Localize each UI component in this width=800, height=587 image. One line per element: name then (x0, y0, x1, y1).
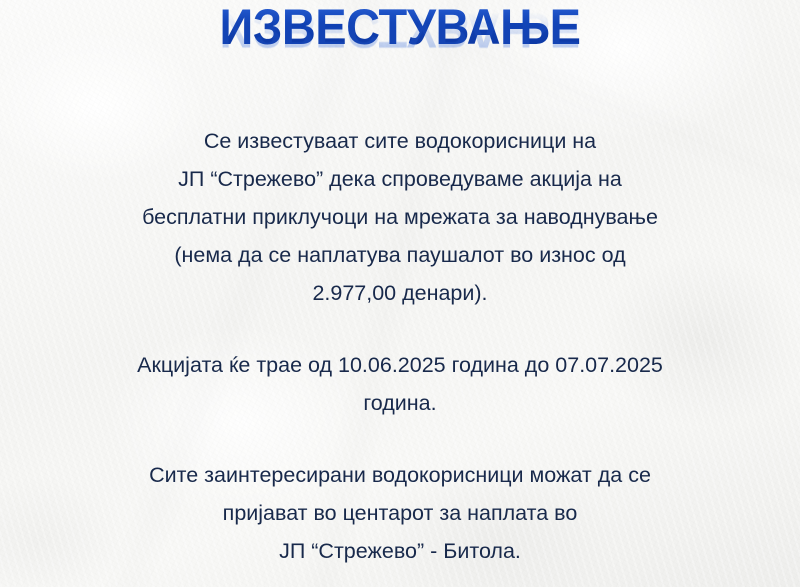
text-line: година. (70, 384, 730, 422)
text-line: (нема да се наплатува паушалот во износ … (70, 236, 730, 274)
notice-body: Се известуваат сите водокорисници на ЈП … (0, 122, 800, 570)
text-line: пријават во центарот за наплата во (70, 494, 730, 532)
text-line: Акцијата ќе трае од 10.06.2025 година до… (70, 346, 730, 384)
text-line: Се известуваат сите водокорисници на (70, 122, 730, 160)
notice-poster: ИЗВЕСТУВАЊЕ ИЗВЕСТУВАЊЕ Се известуваат с… (0, 0, 800, 587)
text-line: ЈП “Стрежево” - Битола. (70, 532, 730, 570)
text-line: Сите заинтересирани водокорисници можат … (70, 456, 730, 494)
text-line: бесплатни приклучоци на мрежата за навод… (70, 198, 730, 236)
page-title-reflection: ИЗВЕСТУВАЊЕ (24, 5, 776, 55)
paragraph-apply: Сите заинтересирани водокорисници можат … (70, 456, 730, 570)
paragraph-period: Акцијата ќе трае од 10.06.2025 година до… (70, 346, 730, 422)
paragraph-intro: Се известуваат сите водокорисници на ЈП … (70, 122, 730, 312)
text-line: ЈП “Стрежево” дека спроведуваме акција н… (70, 160, 730, 198)
notice-title-block: ИЗВЕСТУВАЊЕ ИЗВЕСТУВАЊЕ (0, 2, 800, 105)
text-line: 2.977,00 денари). (70, 274, 730, 312)
